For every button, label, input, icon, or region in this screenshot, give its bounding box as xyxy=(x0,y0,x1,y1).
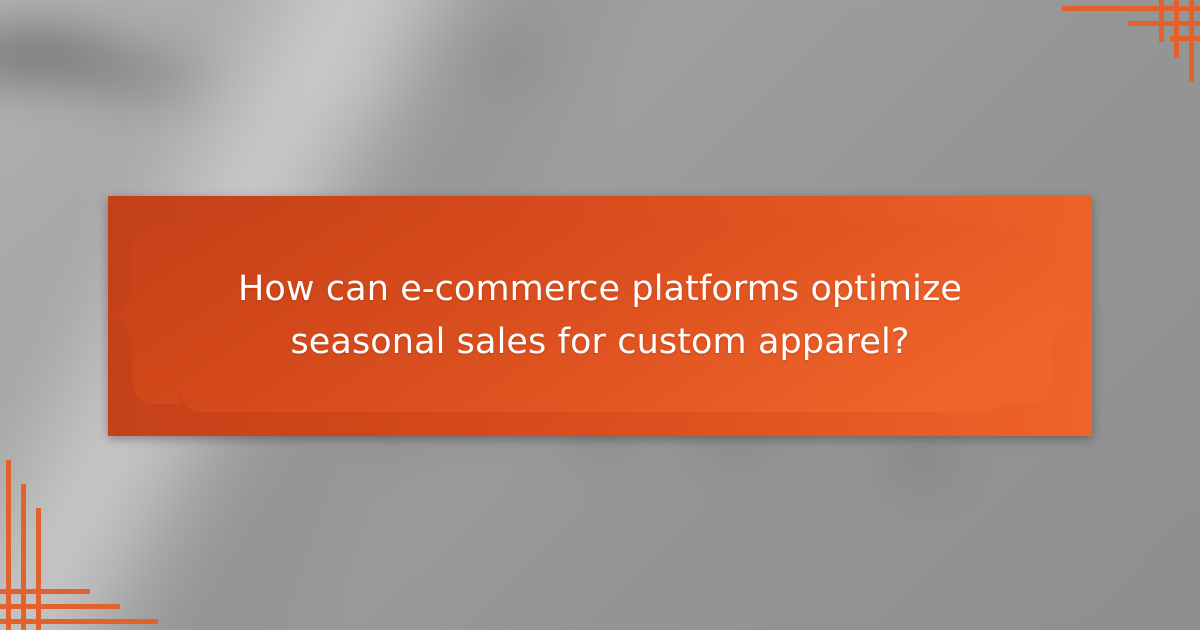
social-card-canvas: How can e-commerce platforms optimize se… xyxy=(0,0,1200,630)
corner-line-v3 xyxy=(1159,0,1164,42)
corner-line-v1 xyxy=(1189,0,1194,82)
corner-line-v3 xyxy=(36,508,41,630)
question-card: How can e-commerce platforms optimize se… xyxy=(108,196,1092,436)
corner-bracket-bottom-left xyxy=(0,450,160,630)
question-line-1: How can e-commerce platforms optimize xyxy=(238,267,962,312)
corner-line-v1 xyxy=(6,460,11,630)
question-text: How can e-commerce platforms optimize se… xyxy=(108,196,1092,436)
corner-bracket-top-right xyxy=(1040,0,1200,80)
corner-line-h1 xyxy=(1062,6,1200,11)
question-line-2: seasonal sales for custom apparel? xyxy=(290,320,909,365)
corner-line-v2 xyxy=(1174,0,1179,58)
corner-line-h2 xyxy=(0,604,120,609)
corner-line-v2 xyxy=(21,484,26,630)
corner-line-h3 xyxy=(0,589,90,594)
